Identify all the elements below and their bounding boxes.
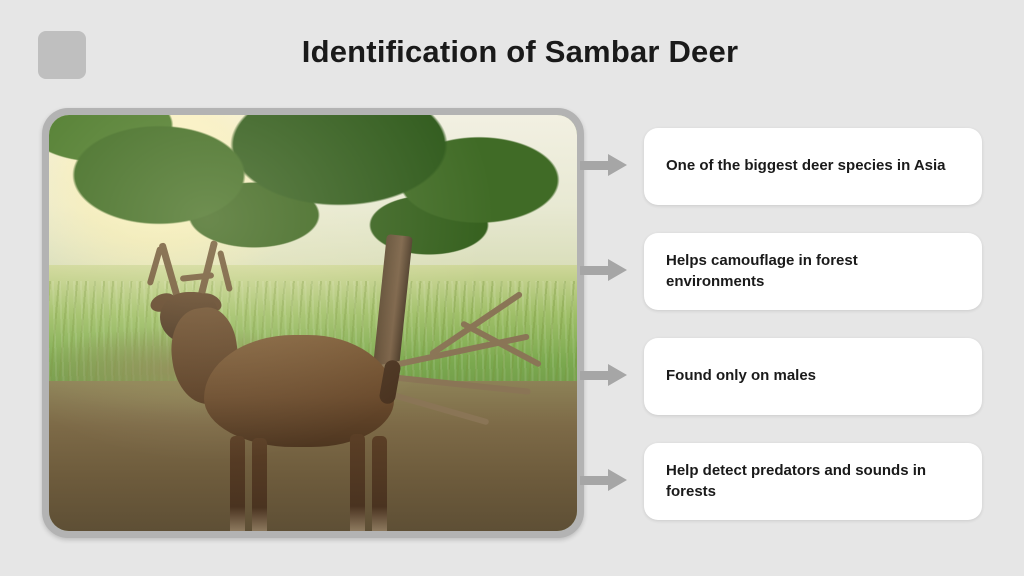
- arrow-icon-2: [580, 259, 628, 281]
- arrow-icon-1: [580, 154, 628, 176]
- photo-deer: [144, 240, 434, 531]
- arrow-icon-3: [580, 364, 628, 386]
- callout-1: One of the biggest deer species in Asia: [644, 128, 982, 205]
- deer-body: [204, 335, 394, 447]
- callout-2: Helps camouflage in forest environments: [644, 233, 982, 310]
- deer-photo: [49, 115, 577, 531]
- arrow-icon-4: [580, 469, 628, 491]
- callout-3: Found only on males: [644, 338, 982, 415]
- deer-antler-cross: [180, 272, 214, 282]
- deer-leg-front-left: [230, 436, 245, 531]
- deer-antler-right-main: [197, 240, 218, 300]
- callout-1-text: One of the biggest deer species in Asia: [666, 156, 946, 176]
- page-title: Identification of Sambar Deer: [120, 34, 920, 70]
- callout-2-text: Helps camouflage in forest environments: [666, 251, 960, 292]
- deer-leg-rear-left: [350, 434, 365, 531]
- corner-square-decoration: [38, 31, 86, 79]
- deer-antler-right-tine: [217, 250, 233, 292]
- callout-4: Help detect predators and sounds in fore…: [644, 443, 982, 520]
- photo-frame: [42, 108, 584, 538]
- deer-leg-front-right: [252, 438, 267, 531]
- slide: Identification of Sambar Deer: [0, 0, 1024, 576]
- callout-4-text: Help detect predators and sounds in fore…: [666, 461, 960, 502]
- deer-leg-rear-right: [372, 436, 387, 531]
- callout-3-text: Found only on males: [666, 366, 816, 386]
- deer-antler-left-tine: [147, 246, 164, 286]
